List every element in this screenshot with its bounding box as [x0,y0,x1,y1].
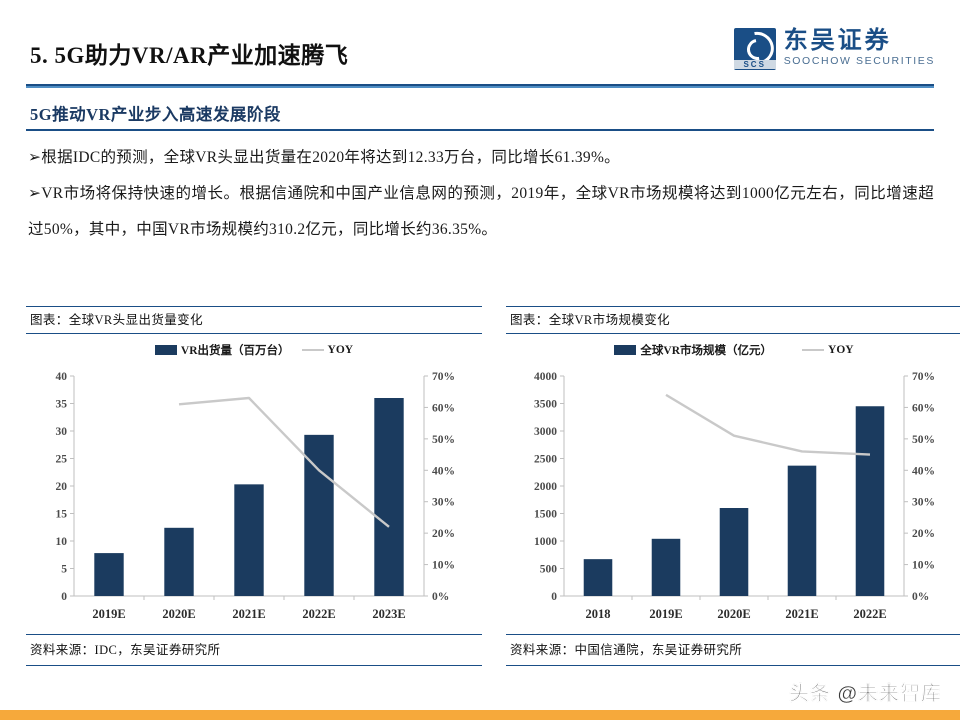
legend-line-icon [302,349,324,351]
svg-text:2000: 2000 [534,481,557,493]
legend-label: 全球VR市场规模（亿元） [640,342,772,358]
svg-text:30%: 30% [912,497,935,509]
slide-header: 5. 5G助力VR/AR产业加速腾飞 SCS 东吴证券 SOOCHOW SECU… [0,0,960,86]
svg-text:5: 5 [61,564,67,576]
bottom-accent-bar [0,710,960,720]
section-heading: 5G推动VR产业步入高速发展阶段 [30,101,281,125]
svg-text:70%: 70% [432,371,455,383]
svg-text:60%: 60% [432,402,455,414]
svg-text:30%: 30% [432,497,455,509]
svg-text:50%: 50% [912,434,935,446]
chart-caption: 图表：全球VR市场规模变化 [506,307,960,333]
svg-text:2020E: 2020E [162,607,195,621]
svg-text:50%: 50% [432,434,455,446]
svg-text:0%: 0% [912,591,929,603]
svg-text:2020E: 2020E [717,607,750,621]
page-title: 5. 5G助力VR/AR产业加速腾飞 [30,36,348,70]
svg-text:70%: 70% [912,371,935,383]
bullet-item: ➢根据IDC的预测，全球VR头显出货量在2020年将达到12.33万台，同比增长… [28,140,934,176]
svg-text:20%: 20% [432,528,455,540]
svg-text:2018: 2018 [586,607,611,621]
svg-text:1000: 1000 [534,536,557,548]
svg-text:25: 25 [56,454,68,466]
panel-bottom-divider [506,665,960,666]
svg-text:10%: 10% [432,560,455,572]
company-logo: SCS 东吴证券 SOOCHOW SECURITIES [734,28,935,70]
chart-area-right: 全球VR市场规模（亿元） YOY 05001000150020002500300… [506,334,960,634]
legend-line-icon [802,349,824,351]
legend-label: YOY [828,344,854,356]
chart-legend: VR出货量（百万台） YOY [26,342,482,358]
legend-swatch-icon [614,345,636,355]
svg-text:60%: 60% [912,402,935,414]
chart-legend: 全球VR市场规模（亿元） YOY [506,342,960,358]
legend-item-bar: VR出货量（百万台） [155,342,290,358]
section-divider [26,129,934,131]
chart-source: 资料来源：IDC，东吴证券研究所 [26,635,482,665]
svg-text:0: 0 [61,591,67,603]
logo-text-block: 东吴证券 SOOCHOW SECURITIES [784,28,935,68]
logo-name-en: SOOCHOW SECURITIES [784,54,935,68]
svg-text:2019E: 2019E [649,607,682,621]
svg-text:20%: 20% [912,528,935,540]
svg-text:35: 35 [56,399,68,411]
svg-text:40: 40 [56,371,68,383]
svg-text:2021E: 2021E [785,607,818,621]
logo-name-cn: 东吴证券 [784,28,935,54]
svg-text:3000: 3000 [534,426,557,438]
svg-text:0%: 0% [432,591,449,603]
watermark: 头条 @未来智库 [789,677,942,706]
svg-text:10: 10 [56,536,68,548]
legend-item-line: YOY [802,344,854,356]
svg-text:0: 0 [551,591,557,603]
legend-label: YOY [328,344,354,356]
bar-chart-vr-market-size: 050010001500200025003000350040000%10%20%… [506,368,960,634]
legend-item-bar: 全球VR市场规模（亿元） [614,342,772,358]
chart-panel-left: 图表：全球VR头显出货量变化 VR出货量（百万台） YOY 0510152025… [26,306,482,670]
svg-text:2021E: 2021E [232,607,265,621]
svg-text:2022E: 2022E [853,607,886,621]
logo-mark-icon: SCS [734,28,776,70]
header-divider [26,84,934,88]
svg-text:2500: 2500 [534,454,557,466]
svg-text:2019E: 2019E [92,607,125,621]
svg-text:40%: 40% [912,465,935,477]
chart-panel-right: 图表：全球VR市场规模变化 全球VR市场规模（亿元） YOY 050010001… [506,306,960,670]
legend-item-line: YOY [302,344,354,356]
slide: 5. 5G助力VR/AR产业加速腾飞 SCS 东吴证券 SOOCHOW SECU… [0,0,960,720]
plot-left: 05101520253035400%10%20%30%40%50%60%70%2… [26,368,482,634]
svg-text:30: 30 [56,426,68,438]
svg-text:2023E: 2023E [372,607,405,621]
svg-text:15: 15 [56,509,68,521]
legend-swatch-icon [155,345,177,355]
svg-text:3500: 3500 [534,399,557,411]
body-text-block: ➢根据IDC的预测，全球VR头显出货量在2020年将达到12.33万台，同比增长… [28,140,934,248]
plot-right: 050010001500200025003000350040000%10%20%… [506,368,960,634]
chart-caption: 图表：全球VR头显出货量变化 [26,307,482,333]
svg-text:20: 20 [56,481,68,493]
legend-label: VR出货量（百万台） [181,342,290,358]
svg-text:500: 500 [540,564,558,576]
chart-source: 资料来源：中国信通院，东吴证券研究所 [506,635,960,665]
logo-mark-text: SCS [734,60,776,69]
svg-text:40%: 40% [432,465,455,477]
svg-text:4000: 4000 [534,371,557,383]
svg-text:2022E: 2022E [302,607,335,621]
bullet-item: ➢VR市场将保持快速的增长。根据信通院和中国产业信息网的预测，2019年，全球V… [28,176,934,248]
panel-bottom-divider [26,665,482,666]
chart-area-left: VR出货量（百万台） YOY 05101520253035400%10%20%3… [26,334,482,634]
svg-text:10%: 10% [912,560,935,572]
bar-chart-vr-shipments: 05101520253035400%10%20%30%40%50%60%70%2… [26,368,482,634]
svg-text:1500: 1500 [534,509,557,521]
